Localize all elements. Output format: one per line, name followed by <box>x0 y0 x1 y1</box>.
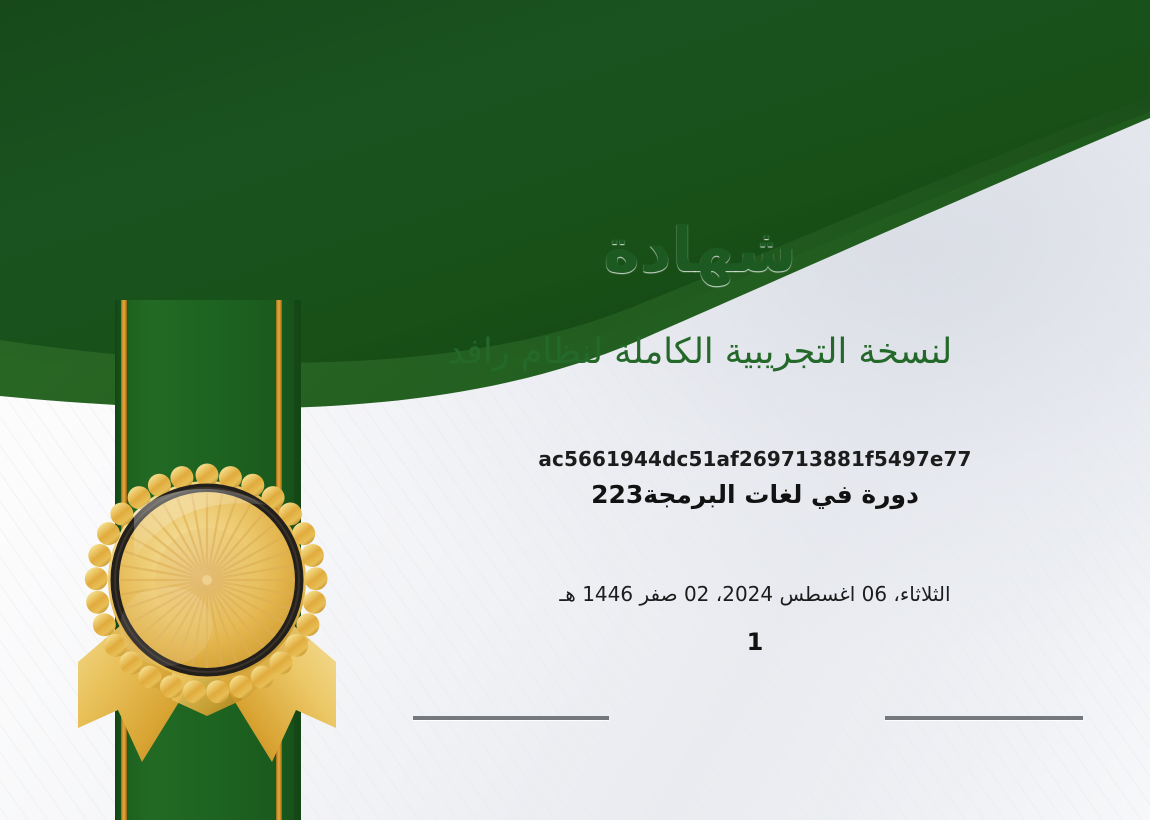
certificate-date: الثلاثاء، 06 اغسطس 2024، 02 صفر 1446 هـ <box>405 582 1105 606</box>
signature-line-right <box>885 716 1083 720</box>
certificate-number: 1 <box>405 628 1105 656</box>
certificate-hash: ac5661944dc51af269713881f5497e77 <box>405 447 1105 471</box>
certificate-title: شهادة <box>330 214 1070 285</box>
certificate-canvas: شهادة لنسخة التجريبية الكاملة لنظام رافد… <box>0 0 1150 820</box>
certificate-course-name: دورة في لغات البرمجة223 <box>405 480 1105 509</box>
certificate-text-layer: شهادة لنسخة التجريبية الكاملة لنظام رافد… <box>0 0 1150 820</box>
signature-line-left <box>413 716 609 720</box>
certificate-subtitle: لنسخة التجريبية الكاملة لنظام رافد <box>330 330 1070 376</box>
